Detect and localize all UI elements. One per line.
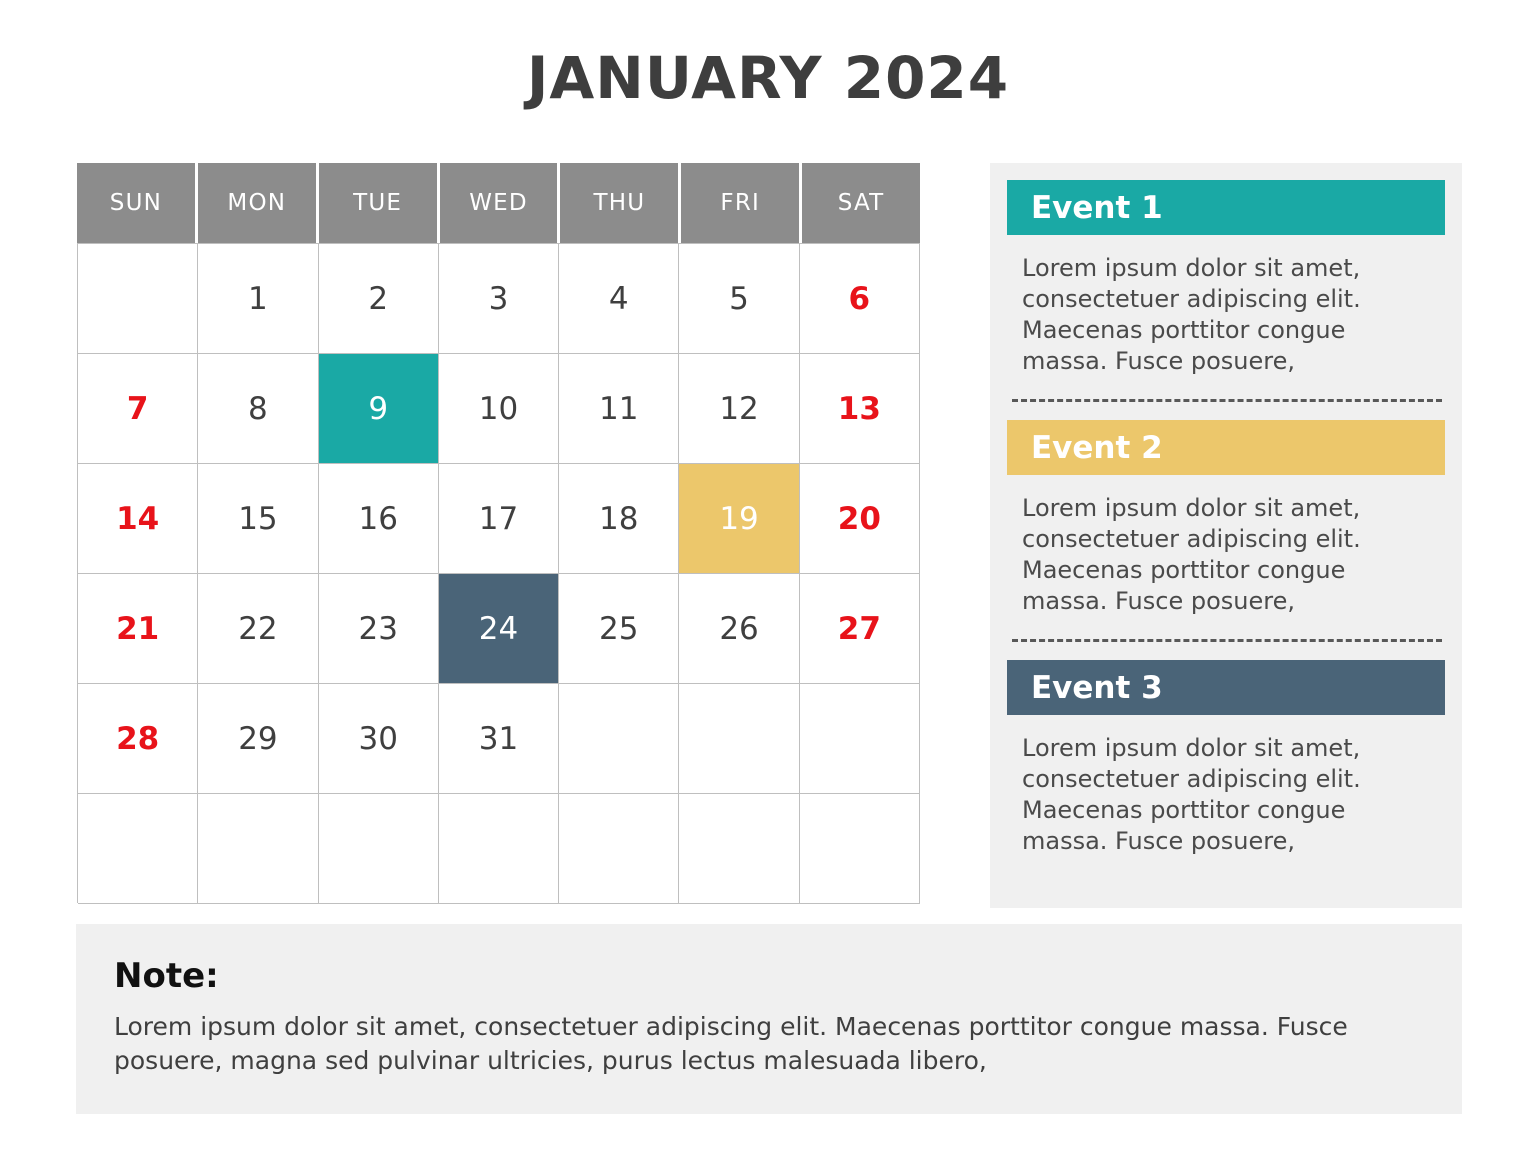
calendar-day-4[interactable]: 4 bbox=[559, 244, 679, 354]
calendar-week-row: 78910111213 bbox=[78, 354, 920, 464]
calendar-day-9[interactable]: 9 bbox=[319, 354, 439, 464]
calendar-day-7[interactable]: 7 bbox=[78, 354, 198, 464]
calendar-day-empty bbox=[319, 794, 439, 904]
calendar-grid: SUNMONTUEWEDTHUFRISAT 123456789101112131… bbox=[77, 163, 920, 903]
calendar-day-27[interactable]: 27 bbox=[800, 574, 920, 684]
calendar-day-empty bbox=[198, 794, 318, 904]
weekday-header-sun: SUN bbox=[77, 163, 198, 243]
calendar-day-13[interactable]: 13 bbox=[800, 354, 920, 464]
calendar-week-row: 21222324252627 bbox=[78, 574, 920, 684]
event-banner-1[interactable]: Event 1 bbox=[1007, 180, 1445, 235]
calendar-day-24[interactable]: 24 bbox=[439, 574, 559, 684]
calendar-day-empty bbox=[439, 794, 559, 904]
calendar-day-grid: 1234567891011121314151617181920212223242… bbox=[77, 243, 920, 903]
event-block-3: Event 3Lorem ipsum dolor sit amet, conse… bbox=[990, 660, 1462, 857]
calendar-day-22[interactable]: 22 bbox=[198, 574, 318, 684]
note-text: Lorem ipsum dolor sit amet, consectetuer… bbox=[114, 1010, 1414, 1078]
event-block-1: Event 1Lorem ipsum dolor sit amet, conse… bbox=[990, 163, 1462, 377]
calendar-day-29[interactable]: 29 bbox=[198, 684, 318, 794]
calendar-day-8[interactable]: 8 bbox=[198, 354, 318, 464]
calendar-day-20[interactable]: 20 bbox=[800, 464, 920, 574]
calendar-day-16[interactable]: 16 bbox=[319, 464, 439, 574]
event-divider bbox=[1012, 399, 1442, 402]
calendar-day-19[interactable]: 19 bbox=[679, 464, 799, 574]
calendar-day-6[interactable]: 6 bbox=[800, 244, 920, 354]
calendar-week-row: 28293031 bbox=[78, 684, 920, 794]
event-banner-3[interactable]: Event 3 bbox=[1007, 660, 1445, 715]
weekday-header-tue: TUE bbox=[319, 163, 440, 243]
note-box: Note: Lorem ipsum dolor sit amet, consec… bbox=[76, 924, 1462, 1114]
events-panel: Event 1Lorem ipsum dolor sit amet, conse… bbox=[990, 163, 1462, 908]
page-title: JANUARY 2024 bbox=[0, 44, 1536, 112]
calendar-day-empty bbox=[679, 684, 799, 794]
calendar-day-empty bbox=[559, 794, 679, 904]
calendar-day-30[interactable]: 30 bbox=[319, 684, 439, 794]
event-body-1: Lorem ipsum dolor sit amet, consectetuer… bbox=[1022, 253, 1434, 377]
calendar-day-26[interactable]: 26 bbox=[679, 574, 799, 684]
calendar-day-empty bbox=[78, 244, 198, 354]
calendar-day-3[interactable]: 3 bbox=[439, 244, 559, 354]
calendar-day-empty bbox=[800, 684, 920, 794]
weekday-header-mon: MON bbox=[198, 163, 319, 243]
event-body-3: Lorem ipsum dolor sit amet, consectetuer… bbox=[1022, 733, 1434, 857]
calendar-day-11[interactable]: 11 bbox=[559, 354, 679, 464]
event-divider bbox=[1012, 639, 1442, 642]
calendar-day-28[interactable]: 28 bbox=[78, 684, 198, 794]
calendar-week-row: 14151617181920 bbox=[78, 464, 920, 574]
event-body-2: Lorem ipsum dolor sit amet, consectetuer… bbox=[1022, 493, 1434, 617]
weekday-header-thu: THU bbox=[560, 163, 681, 243]
calendar-day-25[interactable]: 25 bbox=[559, 574, 679, 684]
event-banner-2[interactable]: Event 2 bbox=[1007, 420, 1445, 475]
calendar-day-14[interactable]: 14 bbox=[78, 464, 198, 574]
calendar-day-21[interactable]: 21 bbox=[78, 574, 198, 684]
calendar-day-1[interactable]: 1 bbox=[198, 244, 318, 354]
calendar-weekday-header: SUNMONTUEWEDTHUFRISAT bbox=[77, 163, 920, 243]
calendar-week-row bbox=[78, 794, 920, 904]
weekday-header-wed: WED bbox=[440, 163, 561, 243]
note-title: Note: bbox=[114, 956, 1422, 996]
weekday-header-sat: SAT bbox=[802, 163, 920, 243]
calendar-day-empty bbox=[78, 794, 198, 904]
calendar-day-17[interactable]: 17 bbox=[439, 464, 559, 574]
calendar-day-5[interactable]: 5 bbox=[679, 244, 799, 354]
calendar-week-row: 123456 bbox=[78, 244, 920, 354]
calendar-day-12[interactable]: 12 bbox=[679, 354, 799, 464]
calendar-day-23[interactable]: 23 bbox=[319, 574, 439, 684]
event-block-2: Event 2Lorem ipsum dolor sit amet, conse… bbox=[990, 420, 1462, 617]
calendar-day-empty bbox=[559, 684, 679, 794]
calendar-day-empty bbox=[800, 794, 920, 904]
calendar-day-18[interactable]: 18 bbox=[559, 464, 679, 574]
calendar-day-empty bbox=[679, 794, 799, 904]
calendar-day-15[interactable]: 15 bbox=[198, 464, 318, 574]
calendar-day-31[interactable]: 31 bbox=[439, 684, 559, 794]
weekday-header-fri: FRI bbox=[681, 163, 802, 243]
calendar-day-10[interactable]: 10 bbox=[439, 354, 559, 464]
calendar-day-2[interactable]: 2 bbox=[319, 244, 439, 354]
